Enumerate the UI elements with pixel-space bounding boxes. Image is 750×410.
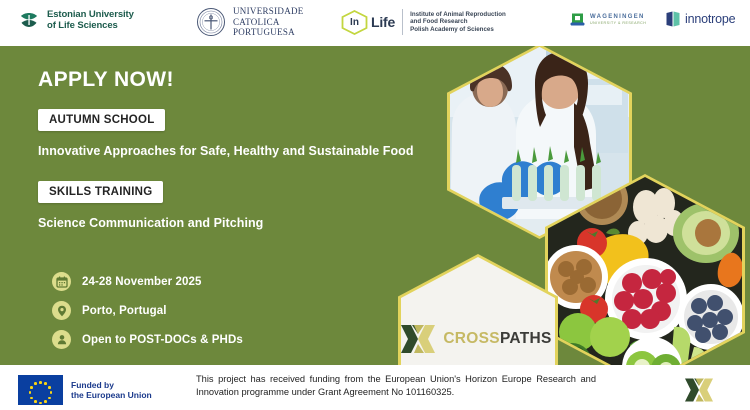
logo-inlife: In Life Institute of Animal Reproduction… [341, 9, 506, 35]
university-seal-icon [196, 7, 226, 37]
eu-funding-line2: the European Union [71, 390, 152, 401]
person-icon [52, 330, 71, 349]
logo-innotrope-text: innotrope [685, 12, 735, 26]
badge-skills-training: SKILLS TRAINING [38, 181, 163, 203]
logo-wageningen-line2: UNIVERSITY & RESEARCH [590, 21, 646, 26]
location-pin-icon [52, 301, 71, 320]
logo-ucp-line1: UNIVERSIDADE [233, 6, 304, 17]
logo-inlife-sub2: and Food Research [410, 18, 506, 26]
hexagon-logo-clip: CROSSPATHS [401, 257, 555, 365]
event-date-text: 24-28 November 2025 [82, 276, 202, 288]
grant-statement: This project has received funding from t… [196, 373, 596, 399]
logo-inlife-sub1: Institute of Animal Reproduction [410, 11, 506, 19]
page-title: APPLY NOW! [38, 68, 174, 92]
footer-crosspaths-mark-icon [684, 376, 714, 404]
badge-autumn-school: AUTUMN SCHOOL [38, 109, 165, 131]
list-item-audience: Open to POST-DOCs & PHDs [52, 326, 243, 353]
logo-universidade-catolica: UNIVERSIDADE CATOLICA PORTUGUESA [196, 6, 304, 38]
event-location-text: Porto, Portugal [82, 305, 167, 317]
logo-innotrope: innotrope [666, 11, 735, 27]
wageningen-mark-icon [570, 12, 585, 27]
main-banner: APPLY NOW! AUTUMN SCHOOL Innovative Appr… [0, 46, 750, 365]
logo-ucp-line2: CATOLICA [233, 17, 304, 28]
logo-inlife-in: In [341, 10, 368, 35]
hexagon-outline-icon: In [341, 10, 368, 35]
event-details-list: 24-28 November 2025 Porto, Portugal [52, 268, 243, 355]
crosspaths-wordmark: CROSSPATHS [443, 330, 551, 348]
crosspaths-mark-icon [401, 322, 436, 356]
crosspaths-word-paths: PATHS [500, 330, 552, 347]
calendar-icon [52, 272, 71, 291]
eu-funding-logo: Funded by the European Union [18, 375, 152, 405]
hexagon-food-photo [545, 174, 745, 365]
event-audience-text: Open to POST-DOCs & PHDs [82, 334, 243, 346]
logo-ucp-line3: PORTUGUESA [233, 27, 304, 38]
logo-estonian-line2: of Life Sciences [47, 20, 134, 31]
logo-inlife-life: Life [371, 14, 395, 30]
innotrope-mark-icon [666, 11, 680, 27]
list-item-date: 24-28 November 2025 [52, 268, 243, 295]
crosspaths-lockup: CROSSPATHS [401, 322, 552, 356]
crosspaths-word-cross: CROSS [443, 330, 500, 347]
hexagon-photo-clip [548, 177, 742, 365]
logo-estonian-university: Estonian University of Life Sciences [18, 9, 134, 31]
logo-estonian-line1: Estonian University [47, 9, 134, 20]
subtitle-skills-training: Science Communication and Pitching [38, 216, 263, 230]
logo-inlife-sub3: Polish Academy of Sciences [410, 26, 506, 34]
leaf-book-icon [18, 9, 40, 31]
logo-wageningen: WAGENINGEN UNIVERSITY & RESEARCH [570, 12, 646, 27]
poster-root: Estonian University of Life Sciences UNI… [0, 0, 750, 410]
logo-divider [402, 9, 403, 35]
subtitle-autumn-school: Innovative Approaches for Safe, Healthy … [38, 144, 414, 158]
eu-funding-line1: Funded by [71, 380, 152, 391]
logo-wageningen-line1: WAGENINGEN [590, 14, 646, 21]
hexagon-crosspaths-logo: CROSSPATHS [398, 254, 558, 365]
eu-flag-icon [18, 375, 63, 405]
partner-logo-header: Estonian University of Life Sciences UNI… [0, 0, 750, 46]
list-item-location: Porto, Portugal [52, 297, 243, 324]
